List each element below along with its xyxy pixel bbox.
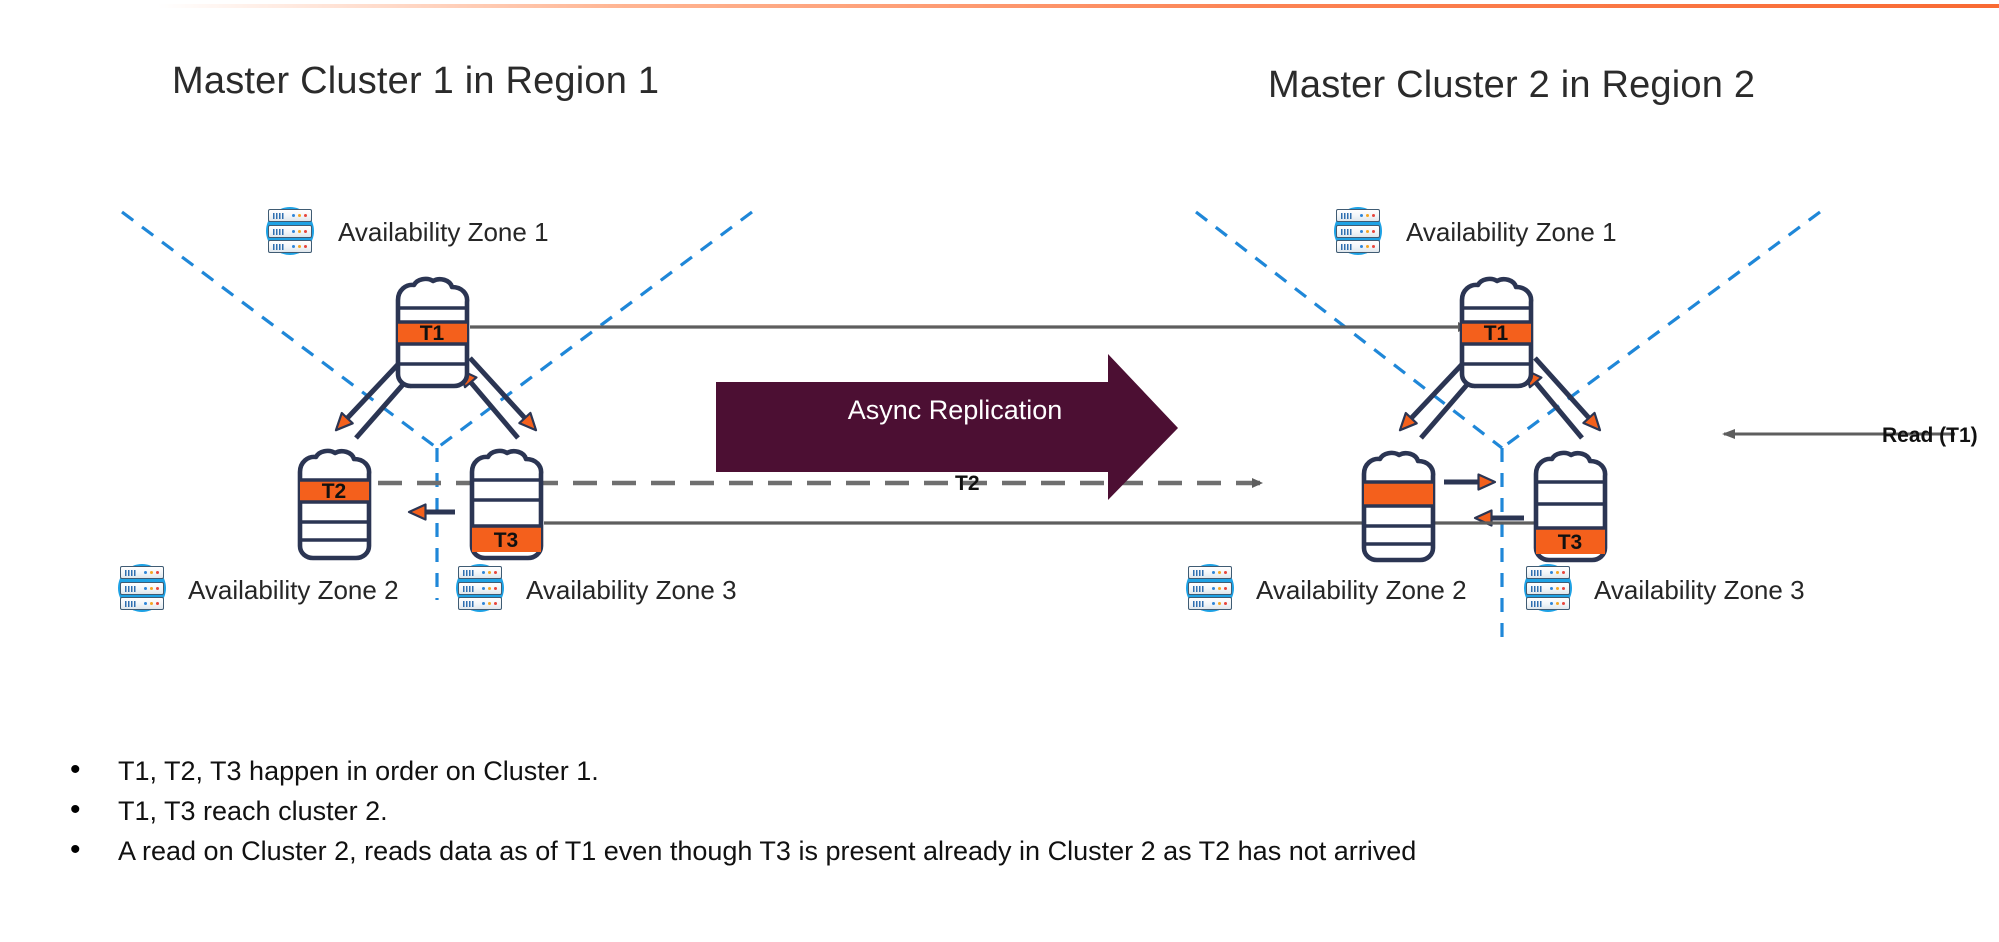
rack-unit — [120, 566, 164, 579]
cluster-1-zone-boundaries — [122, 212, 752, 600]
rack-bars — [125, 570, 136, 576]
db-node-label: T1 — [1484, 322, 1509, 345]
notes-list: T1, T2, T3 happen in order on Cluster 1.… — [40, 752, 1500, 872]
pending-txn-label: T2 — [955, 472, 980, 496]
rack-status-dots — [1212, 587, 1227, 590]
rack-status-dots — [1550, 571, 1565, 574]
availability-zone-label-c2-az2: Availability Zone 2 — [1256, 575, 1467, 606]
db-node-label: T3 — [494, 529, 519, 552]
rack-bars — [463, 601, 474, 607]
rack-unit — [1526, 597, 1570, 610]
server-rack-icon — [452, 560, 508, 616]
availability-zone-label-c2-az1: Availability Zone 1 — [1406, 217, 1617, 248]
db-node-c2-az2[interactable] — [1364, 453, 1433, 560]
rack-status-dots — [482, 602, 497, 605]
rack-status-dots — [292, 245, 307, 248]
rack-bars — [125, 586, 136, 592]
rack-unit — [1188, 582, 1232, 595]
rack-status-dots — [1360, 214, 1375, 217]
rack-bars — [1531, 601, 1542, 607]
rack-status-dots — [1212, 602, 1227, 605]
server-rack-icon — [1520, 560, 1576, 616]
availability-zone-label-c1-az3: Availability Zone 3 — [526, 575, 737, 606]
rack-status-dots — [292, 230, 307, 233]
rack-status-dots — [1550, 587, 1565, 590]
rack-unit — [1336, 240, 1380, 253]
rack-unit — [1188, 566, 1232, 579]
rack-unit — [120, 582, 164, 595]
db-node-label: T1 — [420, 322, 445, 345]
db-node-c1-t1[interactable]: T1 — [398, 279, 467, 386]
rack-status-dots — [1550, 602, 1565, 605]
availability-zone-label-c1-az2: Availability Zone 2 — [188, 575, 399, 606]
rack-unit — [1188, 597, 1232, 610]
rack-bars — [125, 601, 136, 607]
rack-bars — [1531, 586, 1542, 592]
read-request-label: Read (T1) — [1882, 424, 1978, 448]
db-node-label: T3 — [1558, 531, 1583, 554]
rack-bars — [463, 586, 474, 592]
rack-bars — [1341, 213, 1352, 219]
server-rack-icon — [262, 203, 318, 259]
rack-status-dots — [144, 587, 159, 590]
rack-status-dots — [482, 571, 497, 574]
rack-bars — [273, 244, 284, 250]
rack-bars — [1193, 586, 1204, 592]
rack-bars — [1341, 244, 1352, 250]
db-node-c1-t2[interactable]: T2 — [300, 451, 369, 558]
rack-status-dots — [482, 587, 497, 590]
rack-bars — [463, 570, 474, 576]
rack-unit — [458, 566, 502, 579]
rack-unit — [120, 597, 164, 610]
availability-zone-label-c1-az1: Availability Zone 1 — [338, 217, 549, 248]
rack-unit — [268, 225, 312, 238]
rack-unit — [458, 597, 502, 610]
rack-bars — [1341, 229, 1352, 235]
rack-bars — [1193, 570, 1204, 576]
rack-status-dots — [292, 214, 307, 217]
list-item: T1, T3 reach cluster 2. — [40, 792, 1500, 831]
rack-unit — [268, 209, 312, 222]
rack-unit — [268, 240, 312, 253]
rack-unit — [1336, 209, 1380, 222]
rack-bars — [1531, 570, 1542, 576]
db-node-c2-t1[interactable]: T1 — [1462, 279, 1531, 386]
rack-bars — [273, 213, 284, 219]
rack-unit — [1336, 225, 1380, 238]
rack-unit — [1526, 582, 1570, 595]
rack-status-dots — [144, 602, 159, 605]
rack-status-dots — [1360, 245, 1375, 248]
db-node-label: T2 — [322, 480, 347, 503]
list-item: A read on Cluster 2, reads data as of T1… — [40, 832, 1500, 871]
rack-unit — [1526, 566, 1570, 579]
db-node-c2-t3[interactable]: T3 — [1536, 453, 1605, 560]
rack-bars — [273, 229, 284, 235]
rack-status-dots — [1212, 571, 1227, 574]
server-rack-icon — [1182, 560, 1238, 616]
server-rack-icon — [1330, 203, 1386, 259]
rack-bars — [1193, 601, 1204, 607]
rack-status-dots — [1360, 230, 1375, 233]
db-node-c1-t3[interactable]: T3 — [472, 451, 541, 558]
server-rack-icon — [114, 560, 170, 616]
list-item: T1, T2, T3 happen in order on Cluster 1. — [40, 752, 1500, 791]
async-replication-label: Async Replication — [805, 395, 1105, 426]
availability-zone-label-c2-az3: Availability Zone 3 — [1594, 575, 1805, 606]
rack-unit — [458, 582, 502, 595]
async-replication-banner — [716, 354, 1178, 500]
rack-status-dots — [144, 571, 159, 574]
